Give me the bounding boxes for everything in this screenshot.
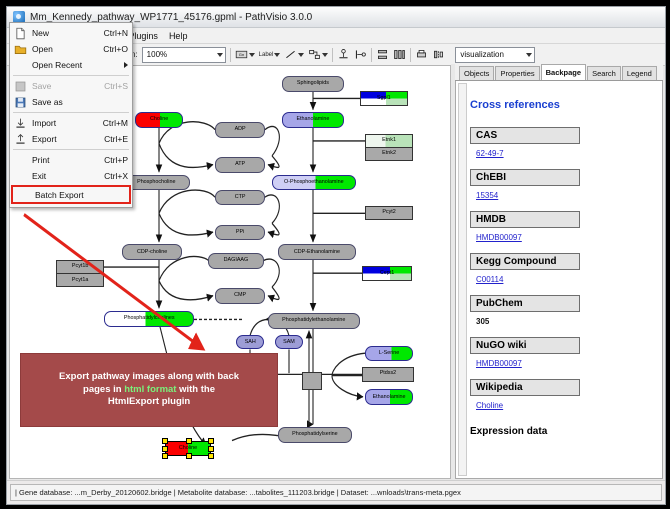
callout-highlight: html format [124, 384, 176, 395]
menu-accel: Ctrl+P [104, 155, 128, 165]
node-etnk1[interactable]: Etnk1 [365, 134, 413, 148]
menu-accel: Ctrl+N [104, 28, 128, 38]
xref-label-hmdb: HMDB [470, 211, 580, 228]
xref-link-hmdb[interactable]: HMDB00097 [476, 233, 522, 242]
node-label: SAH [245, 340, 256, 345]
node-etnk2[interactable]: Etnk2 [365, 147, 413, 161]
node-ethanolamine[interactable]: Ethanolamine [282, 112, 344, 128]
tab-objects[interactable]: Objects [459, 66, 494, 80]
node-label: ATP [235, 162, 245, 167]
node-pcyt1a[interactable]: Pcyt1a [56, 273, 104, 287]
same-width-icon[interactable] [432, 48, 445, 61]
file-menu-import[interactable]: Import Ctrl+M [10, 115, 132, 131]
chevron-right-icon [124, 62, 128, 68]
node-atp[interactable]: ATP [215, 157, 265, 173]
xref-value-hmdb[interactable]: HMDB00097 [476, 233, 652, 242]
node-label: L-Serine [379, 351, 399, 356]
callout-line2-prefix: pages in [83, 384, 124, 395]
distribute-vertical-icon[interactable] [376, 48, 389, 61]
tab-search[interactable]: Search [587, 66, 621, 80]
node-sam[interactable]: SAM [275, 335, 303, 349]
node-label: SAM [283, 340, 295, 345]
menu-separator [13, 149, 129, 150]
chevron-down-icon [249, 53, 255, 57]
node-label: Ethanolamine [373, 395, 406, 400]
distribute-horizontal-icon[interactable] [393, 48, 406, 61]
window-title: Mm_Kennedy_pathway_WP1771_45176.gpml - P… [30, 12, 312, 23]
connector-icon [308, 48, 321, 61]
node-choline-selected[interactable]: Choline [165, 441, 211, 457]
xref-value-nugo[interactable]: HMDB00097 [476, 359, 652, 368]
xref-value-kegg[interactable]: C00114 [476, 275, 652, 284]
backpage-content: Cross references CAS 62-49-7 ChEBI 15354… [455, 81, 663, 479]
save-icon [14, 80, 27, 93]
menu-help[interactable]: Help [164, 29, 193, 43]
node-connector-block [302, 372, 322, 391]
resize-handle[interactable] [208, 446, 214, 452]
status-bar: | Gene database: ...m_Derby_20120602.bri… [7, 480, 665, 504]
node-label: Phosphatidylserine [292, 432, 338, 437]
node-phosphatidylcholines[interactable]: Phosphatidylcholines [104, 311, 194, 327]
node-label: Choline [179, 446, 197, 451]
xref-link-wikipedia[interactable]: Choline [476, 401, 503, 410]
menu-accel: Ctrl+M [103, 118, 128, 128]
node-label: O-Phosphoethanolamine [284, 180, 344, 185]
xref-link-nugo[interactable]: HMDB00097 [476, 359, 522, 368]
node-label: ADP [235, 127, 246, 132]
node-ethanolamine-2[interactable]: Ethanolamine [365, 389, 413, 405]
node-choline-top[interactable]: Choline [135, 112, 183, 128]
callout-line-1: Export pathway images along with back [59, 371, 239, 384]
node-phosphatidylethanolamine[interactable]: Phosphatidylethanolamine [268, 313, 360, 329]
resize-handle[interactable] [162, 438, 168, 444]
xref-label-chebi: ChEBI [470, 169, 580, 186]
chevron-down-icon [526, 53, 532, 57]
annotation-callout: Export pathway images along with back pa… [20, 353, 278, 427]
menu-label: Save as [32, 97, 128, 107]
node-label: Phosphatidylethanolamine [282, 318, 345, 323]
spacer-icon [14, 154, 27, 167]
tab-legend[interactable]: Legend [622, 66, 657, 80]
node-label: Sphingolipids [297, 81, 329, 86]
file-menu-save: Save Ctrl+S [10, 78, 132, 94]
node-cdp-choline[interactable]: CDP-choline [122, 244, 182, 260]
spacer-icon [17, 188, 30, 201]
cross-references-heading: Cross references [470, 99, 652, 111]
xref-label-cas: CAS [470, 127, 580, 144]
xref-label-kegg: Kegg Compound [470, 253, 580, 270]
datanode-icon: Gn [235, 48, 248, 61]
callout-line-3: HtmlExport plugin [59, 396, 239, 409]
spacer-icon [14, 59, 27, 72]
file-menu-dropdown[interactable]: New Ctrl+N Open Ctrl+O Open Recent Save … [9, 22, 133, 208]
node-sah[interactable]: SAH [236, 335, 264, 349]
label-tool[interactable]: Label [259, 52, 281, 58]
menu-accel: Ctrl+E [104, 134, 128, 144]
svg-text:Gn: Gn [238, 52, 243, 57]
resize-handle[interactable] [162, 453, 168, 459]
import-icon [14, 117, 27, 130]
resize-handle[interactable] [186, 438, 192, 444]
chevron-down-icon [298, 53, 304, 57]
menu-label: Print [32, 155, 104, 165]
toolbar-separator [410, 48, 411, 62]
node-label: Phosphocholine [137, 180, 175, 185]
side-panel-tabs: Objects Properties Backpage Search Legen… [455, 65, 663, 81]
node-label: PPi [236, 230, 244, 235]
node-cdp-ethanolamine[interactable]: CDP-Ethanolamine [278, 244, 356, 260]
align-left-icon[interactable] [354, 48, 367, 61]
menu-label: Export [32, 134, 104, 144]
toolbar-separator [230, 48, 231, 62]
new-file-icon [14, 27, 27, 40]
node-adp[interactable]: ADP [215, 122, 265, 138]
zoom-value: 100% [147, 50, 167, 59]
open-folder-icon [14, 43, 27, 56]
node-pcyt1b[interactable]: Pcyt1b [56, 260, 104, 274]
node-label: CDP-Ethanolamine [294, 250, 340, 255]
node-label: Etnk1 [382, 138, 396, 143]
xref-value-cas[interactable]: 62-49-7 [476, 149, 652, 158]
node-ppi[interactable]: PPi [215, 225, 265, 241]
node-label: Pcyt1b [72, 264, 88, 269]
node-sphingolipids[interactable]: Sphingolipids [282, 76, 344, 92]
node-label: Ptdss2 [380, 371, 396, 376]
node-label: Pcyt2 [382, 210, 395, 215]
file-menu-export[interactable]: Export Ctrl+E [10, 131, 132, 147]
menu-label: Exit [32, 171, 104, 181]
tab-properties[interactable]: Properties [495, 66, 539, 80]
line-icon [284, 48, 297, 61]
chevron-down-icon [274, 53, 280, 57]
export-icon [14, 133, 27, 146]
node-label: Ethanolamine [296, 117, 329, 122]
print-icon[interactable] [415, 48, 428, 61]
menu-label: Save [32, 81, 104, 91]
node-label: Choline [150, 117, 168, 122]
xref-label-wikipedia: Wikipedia [470, 379, 580, 396]
backpage-scrollbar[interactable] [458, 83, 467, 476]
menu-label: Open [32, 44, 103, 54]
node-label: Etnk2 [382, 151, 396, 156]
xref-link-chebi[interactable]: 15354 [476, 191, 498, 200]
chevron-down-icon [322, 53, 328, 57]
node-label: CMP [234, 293, 246, 298]
menu-label: Open Recent [32, 60, 124, 70]
datanode-tool[interactable]: Gn [235, 48, 255, 61]
node-label: CDP-choline [137, 250, 167, 255]
resize-handle[interactable] [186, 453, 192, 459]
node-ptdss2[interactable]: Ptdss2 [362, 367, 414, 382]
align-top-icon[interactable] [337, 48, 350, 61]
menu-accel: Ctrl+S [104, 81, 128, 91]
menu-label: New [32, 28, 104, 38]
menu-separator [13, 112, 129, 113]
callout-line-2: pages in html format with the [59, 384, 239, 397]
resize-handle[interactable] [208, 438, 214, 444]
xref-label-pubchem: PubChem [470, 295, 580, 312]
node-cept1[interactable]: Cept1 [362, 266, 412, 281]
file-menu-batch-export[interactable]: Batch Export [11, 185, 131, 204]
tab-backpage[interactable]: Backpage [541, 64, 586, 80]
menu-accel: Ctrl+X [104, 171, 128, 181]
zoom-combo[interactable]: 100% [142, 47, 226, 63]
file-menu-new[interactable]: New Ctrl+N [10, 25, 132, 41]
visualization-value: visualization [460, 50, 504, 59]
toolbar-separator [332, 48, 333, 62]
chevron-down-icon [217, 53, 223, 57]
node-label: DAGIAAG [224, 258, 249, 263]
expression-data-heading: Expression data [470, 426, 652, 437]
node-phosphatidylserine[interactable]: Phosphatidylserine [278, 427, 352, 443]
node-l-serine[interactable]: L-Serine [365, 346, 413, 362]
node-pcyt2[interactable]: Pcyt2 [365, 206, 413, 221]
file-menu-open[interactable]: Open Ctrl+O [10, 41, 132, 57]
status-text: | Gene database: ...m_Derby_20120602.bri… [10, 484, 662, 501]
menu-separator [13, 75, 129, 76]
save-as-icon [14, 96, 27, 109]
node-o-phosphoethanolamine[interactable]: O-Phosphoethanolamine [272, 175, 356, 191]
node-label: Pcyt1a [72, 278, 88, 283]
side-panel: Objects Properties Backpage Search Legen… [455, 65, 663, 479]
node-label: Phosphatidylcholines [124, 316, 175, 321]
xref-link-kegg[interactable]: C00114 [476, 275, 503, 284]
xref-value-chebi[interactable]: 15354 [476, 191, 652, 200]
xref-link-cas[interactable]: 62-49-7 [476, 149, 504, 158]
file-menu-exit[interactable]: Exit Ctrl+X [10, 168, 132, 184]
label-tool-text: Label [259, 52, 274, 58]
xref-value-wikipedia[interactable]: Choline [476, 401, 652, 410]
pathvisio-window: Mm_Kennedy_pathway_WP1771_45176.gpml - P… [6, 6, 666, 505]
node-ctp[interactable]: CTP [215, 190, 265, 206]
node-label: Cept1 [380, 271, 394, 276]
menu-label: Batch Export [35, 190, 125, 200]
menu-accel: Ctrl+O [103, 44, 128, 54]
spacer-icon [14, 170, 27, 183]
xref-label-nugo: NuGO wiki [470, 337, 580, 354]
menu-label: Import [32, 118, 103, 128]
node-cmp[interactable]: CMP [215, 288, 265, 304]
resize-handle[interactable] [208, 453, 214, 459]
toolbar-separator [371, 48, 372, 62]
visualization-combo[interactable]: visualization [455, 47, 535, 63]
connector-tool[interactable] [308, 48, 328, 61]
line-tool[interactable] [284, 48, 304, 61]
resize-handle[interactable] [162, 446, 168, 452]
file-menu-save-as[interactable]: Save as [10, 94, 132, 110]
node-sgpl1[interactable]: Sgpl1 [360, 91, 408, 106]
xref-value-pubchem: 305 [476, 317, 652, 326]
node-label: Sgpl1 [377, 96, 391, 101]
file-menu-print[interactable]: Print Ctrl+P [10, 152, 132, 168]
node-label: CTP [235, 195, 246, 200]
file-menu-open-recent[interactable]: Open Recent [10, 57, 132, 73]
callout-line2-suffix: with the [176, 384, 215, 395]
node-dag[interactable]: DAGIAAG [208, 253, 264, 269]
